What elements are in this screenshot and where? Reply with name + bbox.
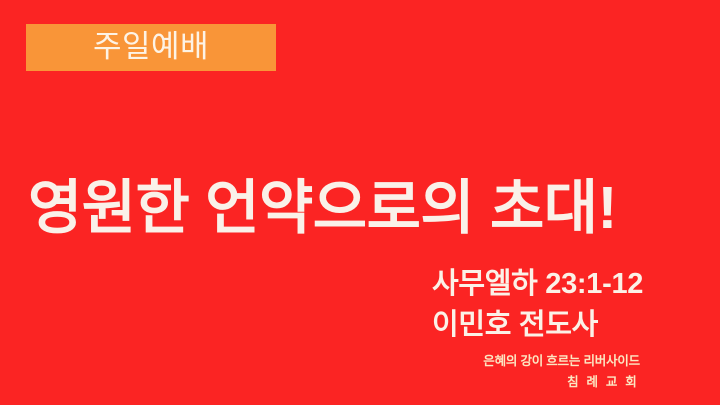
sermon-title-slide: 주일예배 영원한 언약으로의 초대! 사무엘하 23:1-12 이민호 전도사 … (0, 0, 720, 405)
speaker-name: 이민호 전도사 (432, 307, 640, 345)
sermon-title: 영원한 언약으로의 초대! (28, 177, 700, 240)
category-badge: 주일예배 (26, 24, 276, 71)
scripture-reference: 사무엘하 23:1-12 (432, 266, 640, 304)
category-badge-label: 주일예배 (93, 31, 209, 62)
church-name: 침 례 교 회 (432, 373, 640, 391)
church-name-block: 은혜의 강이 흐르는 리버사이드 침 례 교 회 (432, 352, 640, 390)
sermon-info-block: 사무엘하 23:1-12 이민호 전도사 은혜의 강이 흐르는 리버사이드 침 … (432, 266, 640, 391)
church-tagline: 은혜의 강이 흐르는 리버사이드 (432, 352, 640, 370)
